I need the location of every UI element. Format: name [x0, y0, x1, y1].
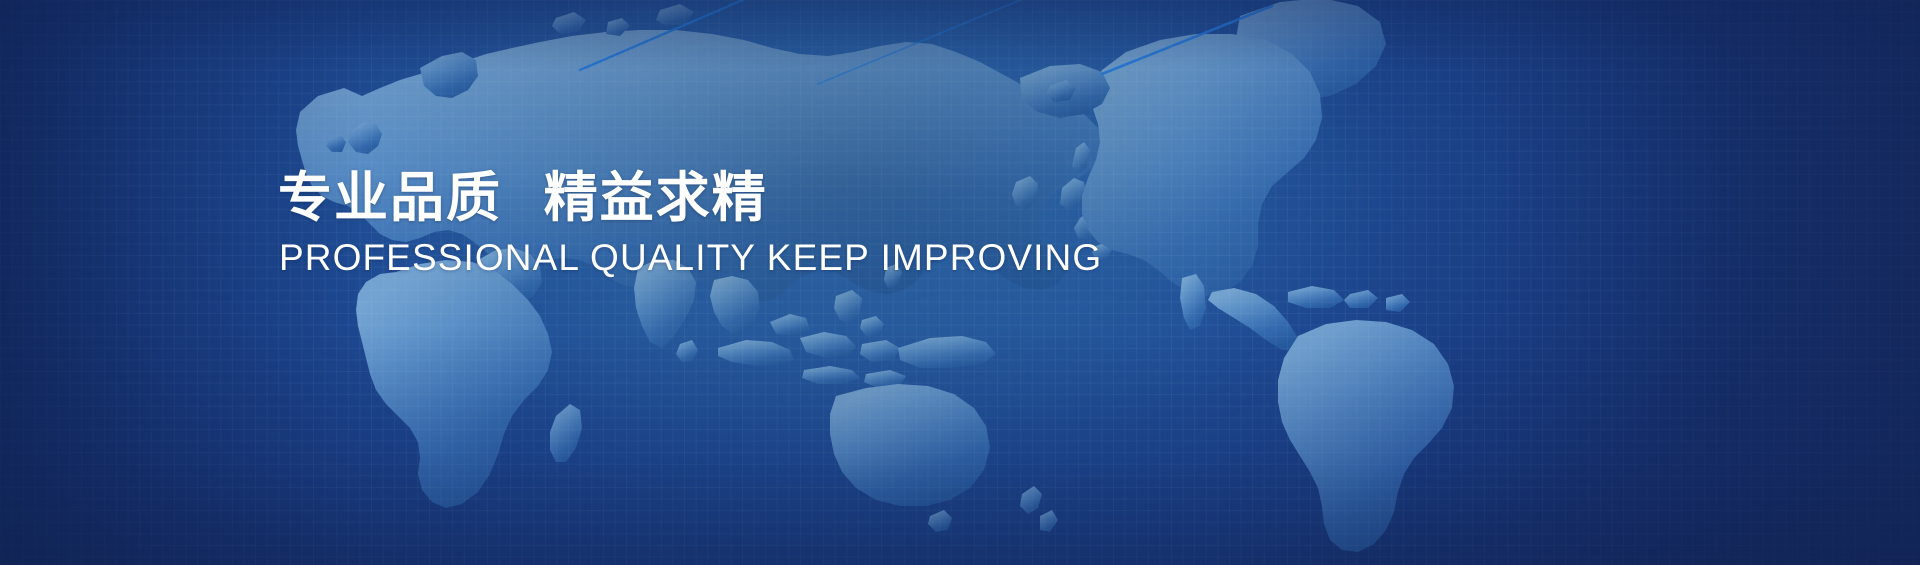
headline-title-chinese: 专业品质 精益求精	[278, 168, 1278, 228]
headline-subtitle-english: PROFESSIONAL QUALITY KEEP IMPROVING	[279, 237, 1278, 280]
headline-block: 专业品质 精益求精 PROFESSIONAL QUALITY KEEP IMPR…	[278, 168, 1278, 280]
hero-banner: 专业品质 精益求精 PROFESSIONAL QUALITY KEEP IMPR…	[0, 0, 1920, 565]
world-map-graphic	[0, 0, 1920, 565]
